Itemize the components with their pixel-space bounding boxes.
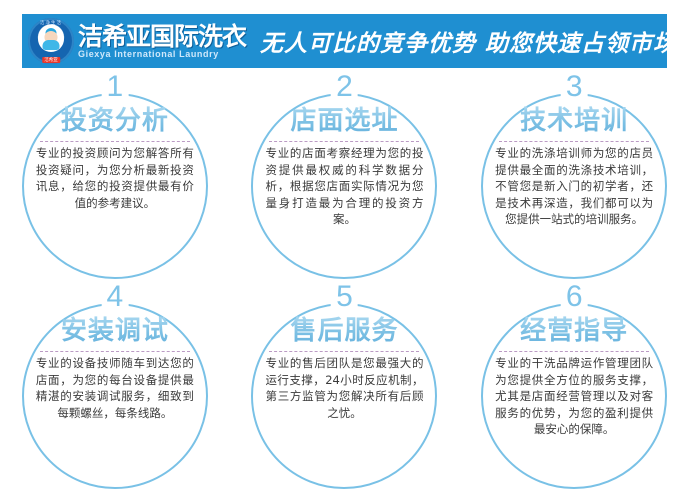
- step-title: 安装调试: [34, 315, 196, 347]
- step-card-6: 6 经营指导 专业的干洗品牌运作管理团队为您提供全方位的服务支撑，尤其是店面经营…: [459, 282, 689, 492]
- brand-logo: 洁净生活 洁希亚 洁希亚国际洗衣 Giexya International La…: [22, 18, 246, 64]
- step-title: 店面选址: [263, 105, 425, 137]
- logo-ring-text: 洁净生活: [28, 21, 74, 26]
- step-title: 投资分析: [34, 105, 196, 137]
- step-divider: [499, 351, 649, 352]
- logo-badge-icon: 洁净生活 洁希亚: [28, 18, 74, 64]
- step-description: 专业的投资顾问为您解答所有投资疑问，为您分析最新投资讯息，给您的投资提供最有价值…: [34, 145, 196, 211]
- step-number: 5: [331, 282, 358, 312]
- step-description: 专业的干洗品牌运作管理团队为您提供全方位的服务支撑，尤其是店面经营管理以及对客服…: [493, 355, 655, 438]
- step-description: 专业的洗涤培训师为您的店员提供最全面的洗涤技术培训，不管您是新入门的初学者，还是…: [493, 145, 655, 228]
- logo-chip-label: 洁希亚: [42, 57, 60, 63]
- brand-name-en: Giexya International Laundry: [78, 50, 246, 59]
- brand-wordmark: 洁希亚国际洗衣 Giexya International Laundry: [78, 24, 246, 59]
- step-divider: [40, 351, 190, 352]
- step-divider: [269, 141, 419, 142]
- step-number: 3: [561, 72, 588, 102]
- step-title: 技术培训: [493, 105, 655, 137]
- step-card-4: 4 安装调试 专业的设备技师随车到达您的店面，为您的每台设备提供最精湛的安装调试…: [0, 282, 230, 492]
- step-content: 店面选址 专业的店面考察经理为您的投资提供最权威的科学数据分析，根据您店面实际情…: [263, 105, 425, 228]
- step-divider: [40, 141, 190, 142]
- step-content: 售后服务 专业的售后团队是您最强大的运行支撑，24小时反应机制，第三方监管为您解…: [263, 315, 425, 421]
- step-number: 6: [561, 282, 588, 312]
- step-number: 4: [101, 282, 128, 312]
- steps-grid: 1 投资分析 专业的投资顾问为您解答所有投资疑问，为您分析最新投资讯息，给您的投…: [0, 72, 689, 492]
- step-description: 专业的售后团队是您最强大的运行支撑，24小时反应机制，第三方监管为您解决所有后顾…: [263, 355, 425, 421]
- brand-name-cn: 洁希亚国际洗衣: [78, 24, 246, 49]
- step-divider: [269, 351, 419, 352]
- step-title: 经营指导: [493, 315, 655, 347]
- step-number: 2: [331, 72, 358, 102]
- logo-mascot-icon: [38, 26, 64, 52]
- step-content: 安装调试 专业的设备技师随车到达您的店面，为您的每台设备提供最精湛的安装调试服务…: [34, 315, 196, 421]
- step-content: 技术培训 专业的洗涤培训师为您的店员提供最全面的洗涤技术培训，不管您是新入门的初…: [493, 105, 655, 228]
- step-description: 专业的店面考察经理为您的投资提供最权威的科学数据分析，根据您店面实际情况为您量身…: [263, 145, 425, 228]
- step-card-3: 3 技术培训 专业的洗涤培训师为您的店员提供最全面的洗涤技术培训，不管您是新入门…: [459, 72, 689, 282]
- step-divider: [499, 141, 649, 142]
- step-description: 专业的设备技师随车到达您的店面，为您的每台设备提供最精湛的安装调试服务，细致到每…: [34, 355, 196, 421]
- step-card-5: 5 售后服务 专业的售后团队是您最强大的运行支撑，24小时反应机制，第三方监管为…: [230, 282, 460, 492]
- step-title: 售后服务: [263, 315, 425, 347]
- banner-slogan: 无人可比的竞争优势 助您快速占领市场: [246, 24, 667, 58]
- step-card-2: 2 店面选址 专业的店面考察经理为您的投资提供最权威的科学数据分析，根据您店面实…: [230, 72, 460, 282]
- step-content: 投资分析 专业的投资顾问为您解答所有投资疑问，为您分析最新投资讯息，给您的投资提…: [34, 105, 196, 211]
- header-banner: 洁净生活 洁希亚 洁希亚国际洗衣 Giexya International La…: [22, 14, 667, 68]
- step-card-1: 1 投资分析 专业的投资顾问为您解答所有投资疑问，为您分析最新投资讯息，给您的投…: [0, 72, 230, 282]
- step-number: 1: [101, 72, 128, 102]
- step-content: 经营指导 专业的干洗品牌运作管理团队为您提供全方位的服务支撑，尤其是店面经营管理…: [493, 315, 655, 438]
